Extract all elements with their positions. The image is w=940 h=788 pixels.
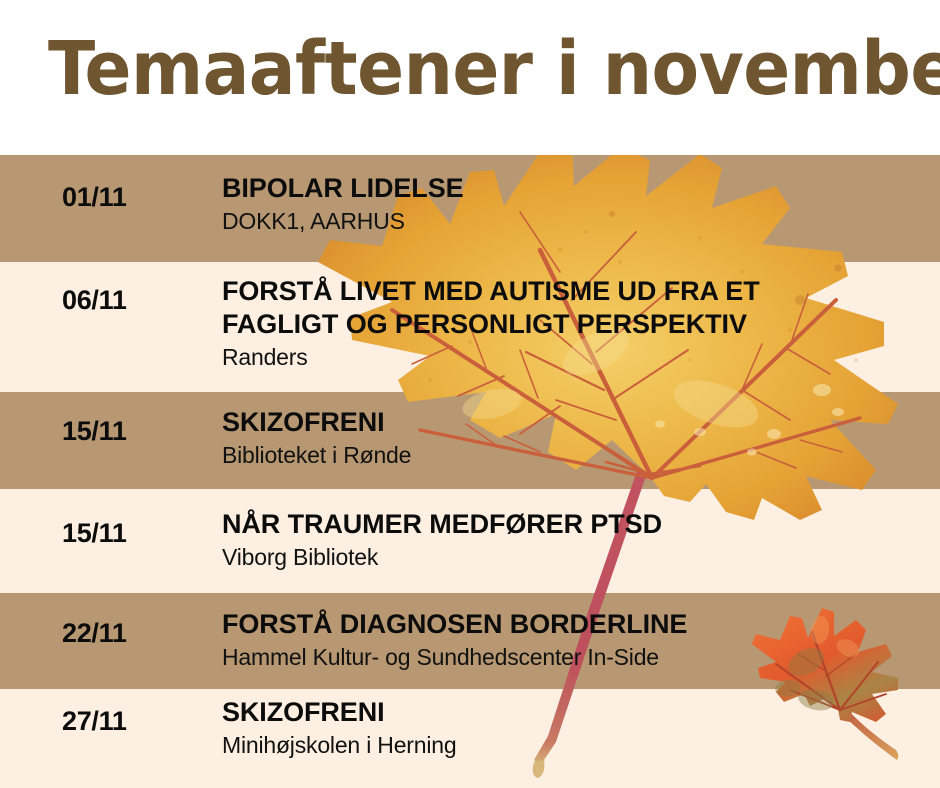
event-title: SKIZOFRENI — [222, 696, 922, 729]
event-body: NÅR TRAUMER MEDFØRER PTSD Viborg Bibliot… — [222, 508, 922, 572]
event-title: FORSTÅ DIAGNOSEN BORDERLINE — [222, 608, 922, 641]
event-body: SKIZOFRENI Biblioteket i Rønde — [222, 406, 922, 470]
event-date: 06/11 — [62, 285, 127, 315]
event-title: BIPOLAR LIDELSE — [222, 172, 922, 205]
page-title: Temaaftener i november — [48, 28, 940, 110]
event-venue: Hammel Kultur- og Sundhedscenter In-Side — [222, 642, 922, 672]
event-body: SKIZOFRENI Minihøjskolen i Herning — [222, 696, 922, 760]
event-date: 15/11 — [62, 518, 127, 548]
poster-canvas: Temaaftener i november 01/11 BIPOLAR LID… — [0, 0, 940, 788]
event-date: 27/11 — [62, 706, 127, 736]
event-body: FORSTÅ DIAGNOSEN BORDERLINE Hammel Kultu… — [222, 608, 922, 672]
event-date: 01/11 — [62, 182, 127, 212]
event-venue: Minihøjskolen i Herning — [222, 730, 922, 760]
event-venue: Viborg Bibliotek — [222, 542, 922, 572]
event-body: FORSTÅ LIVET MED AUTISME UD FRA ET FAGLI… — [222, 275, 922, 372]
event-title: FORSTÅ LIVET MED AUTISME UD FRA ET FAGLI… — [222, 275, 842, 341]
event-venue: DOKK1, AARHUS — [222, 206, 922, 236]
title-bar: Temaaftener i november — [0, 0, 940, 155]
event-date: 22/11 — [62, 618, 127, 648]
event-title: SKIZOFRENI — [222, 406, 922, 439]
event-venue: Biblioteket i Rønde — [222, 440, 922, 470]
event-date: 15/11 — [62, 416, 127, 446]
event-venue: Randers — [222, 342, 922, 372]
event-title: NÅR TRAUMER MEDFØRER PTSD — [222, 508, 922, 541]
event-body: BIPOLAR LIDELSE DOKK1, AARHUS — [222, 172, 922, 236]
